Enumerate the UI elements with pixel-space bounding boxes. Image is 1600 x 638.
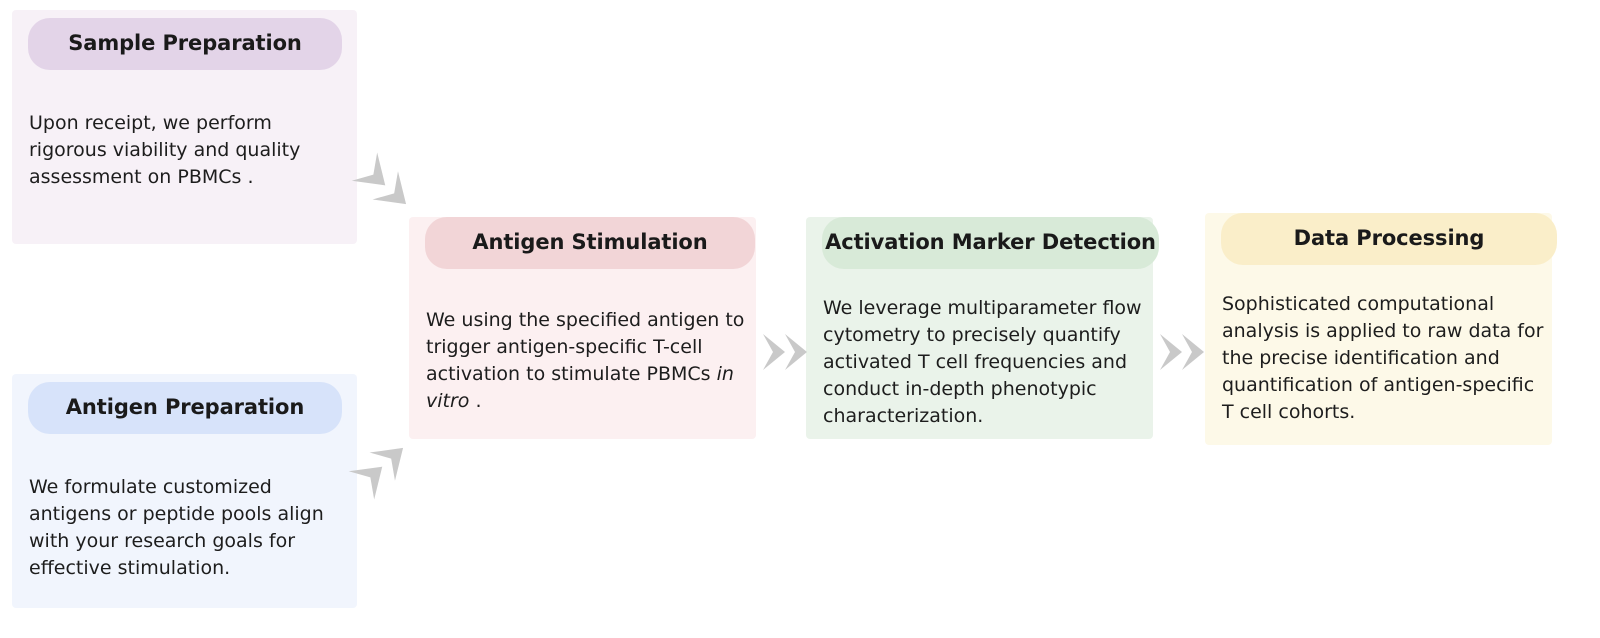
double-chevron-icon [762, 331, 808, 373]
card-description-text: We using the specified antigen to trigge… [426, 309, 744, 385]
card-description-antigen-preparation: We formulate customized antigens or pept… [29, 474, 349, 582]
card-title: Antigen Stimulation [472, 231, 707, 254]
card-description-text-tail: . [469, 390, 481, 412]
card-description-activation-marker-detection: We leverage multiparameter flow cytometr… [823, 295, 1145, 430]
card-description-antigen-stimulation: We using the specified antigen to trigge… [426, 307, 746, 415]
card-header-antigen-preparation: Antigen Preparation [28, 382, 342, 434]
workflow-diagram: Sample Preparation Upon receipt, we perf… [0, 0, 1600, 638]
arrow-sample-to-stimulation [348, 148, 425, 224]
card-header-data-processing: Data Processing [1221, 213, 1557, 265]
arrow-stimulation-to-detection [762, 331, 808, 373]
card-title: Data Processing [1294, 227, 1485, 250]
double-chevron-icon [348, 148, 425, 224]
card-header-antigen-stimulation: Antigen Stimulation [425, 217, 755, 269]
card-description-sample-preparation: Upon receipt, we perform rigorous viabil… [29, 110, 349, 191]
card-data-processing[interactable]: Data Processing Sophisticated computatio… [1205, 213, 1552, 445]
card-title: Sample Preparation [68, 32, 302, 55]
card-antigen-stimulation[interactable]: Antigen Stimulation We using the specifi… [409, 217, 756, 439]
card-header-activation-marker-detection: Activation Marker Detection [822, 217, 1159, 269]
card-title: Activation Marker Detection [825, 231, 1156, 254]
card-description-text: We formulate customized antigens or pept… [29, 476, 324, 579]
double-chevron-icon [1159, 331, 1205, 373]
card-title: Antigen Preparation [66, 396, 304, 419]
card-antigen-preparation[interactable]: Antigen Preparation We formulate customi… [12, 374, 357, 608]
card-description-data-processing: Sophisticated computational analysis is … [1222, 291, 1547, 426]
card-description-text: Upon receipt, we perform rigorous viabil… [29, 112, 300, 188]
card-header-sample-preparation: Sample Preparation [28, 18, 342, 70]
arrow-detection-to-processing [1159, 331, 1205, 373]
card-description-text: Sophisticated computational analysis is … [1222, 293, 1543, 423]
card-sample-preparation[interactable]: Sample Preparation Upon receipt, we perf… [12, 10, 357, 244]
card-description-text: We leverage multiparameter flow cytometr… [823, 297, 1142, 427]
card-activation-marker-detection[interactable]: Activation Marker Detection We leverage … [806, 217, 1153, 439]
